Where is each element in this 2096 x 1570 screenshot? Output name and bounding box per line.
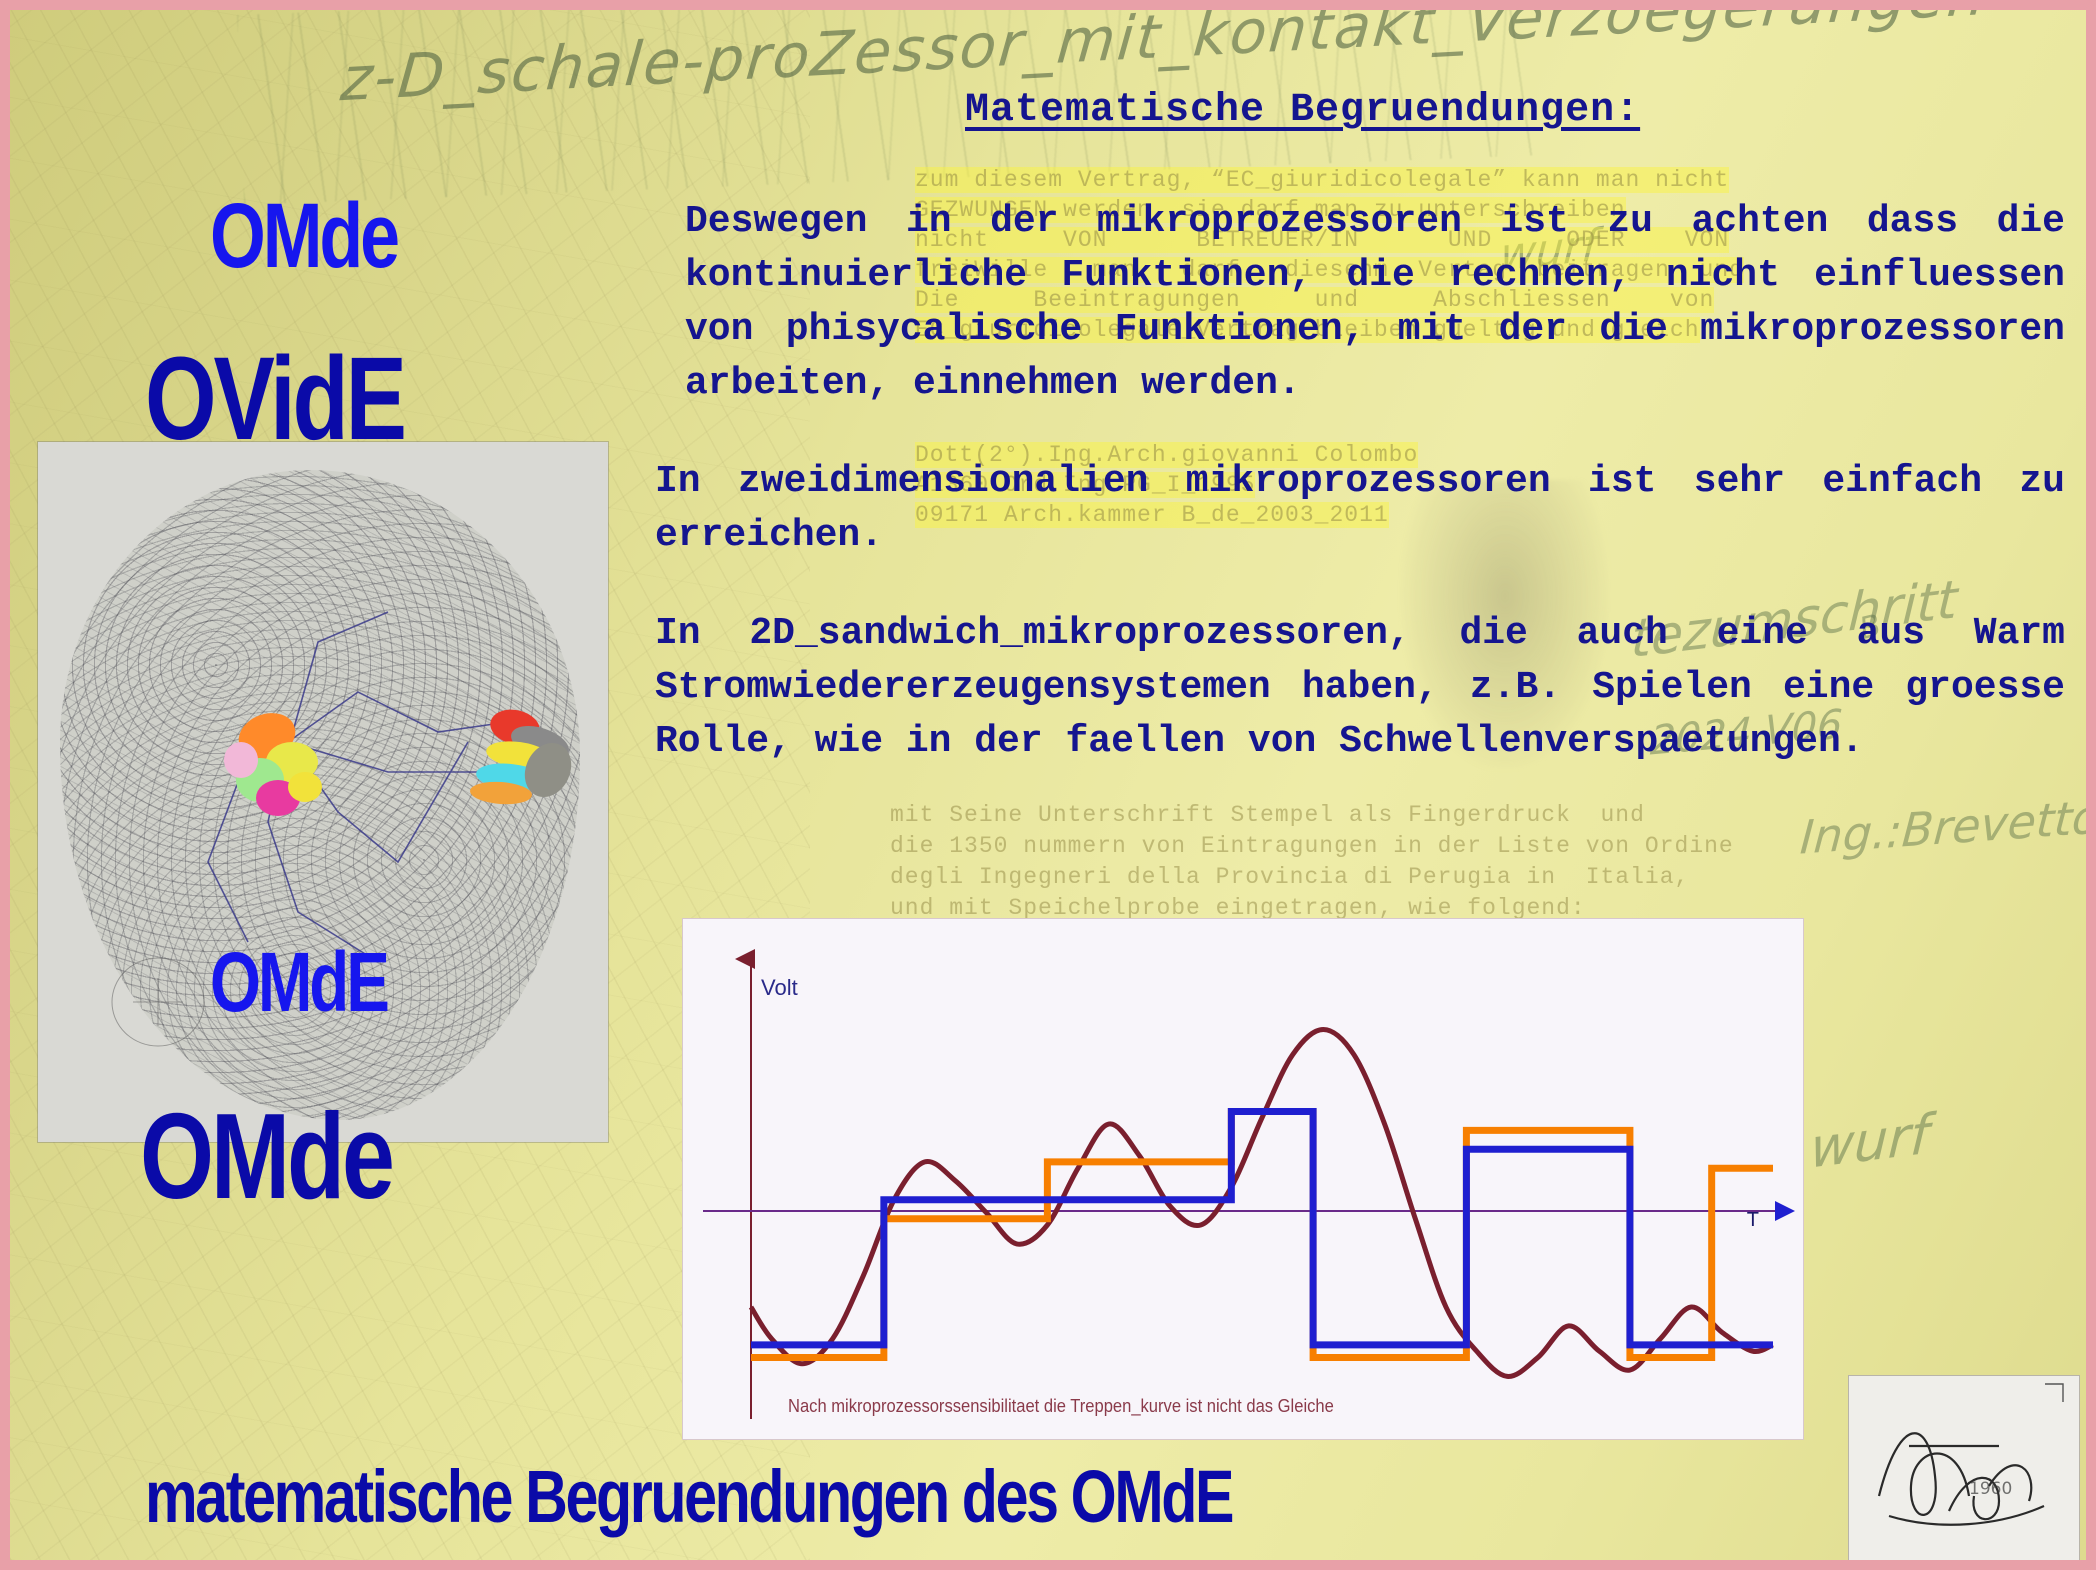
brand-mark-omde-3: OMde (140, 1095, 392, 1217)
svg-text:1960: 1960 (1969, 1479, 2012, 1499)
waveform-chart: Volt T Nach mikroprozessorssensibilitaet… (682, 918, 1804, 1440)
chart-x-axis-label: T (1747, 1209, 1759, 1232)
signature-scribble: 1960 (1849, 1376, 2079, 1561)
document-body: Deswegen in der mikroprozessoren ist zu … (655, 195, 2065, 769)
brand-mark-omde-1: OMde (210, 190, 397, 282)
presentation-slide: z-D_schale-proZessor_mit_kontakt_Verzoeg… (0, 0, 2096, 1570)
brain-sketch-photo (38, 442, 608, 1142)
signature-stamp-card: 1960 (1848, 1375, 2080, 1562)
slide-footer-title: matematische Begruendungen des OMdE (145, 1460, 1232, 1534)
chart-plot-area (683, 919, 1803, 1439)
chart-y-axis-label: Volt (761, 975, 798, 1001)
color-blob (224, 742, 258, 778)
brand-mark-ovide: OVidE (145, 340, 404, 458)
chart-caption: Nach mikroprozessorssensibilitaet die Tr… (788, 1396, 1334, 1417)
color-blob (288, 772, 322, 802)
brand-mark-omde-2: OMdE (210, 940, 387, 1024)
paragraph-3: In 2D_sandwich_mikroprozessoren, die auc… (655, 607, 2065, 769)
paragraph-1: Deswegen in der mikroprozessoren ist zu … (655, 195, 2065, 411)
blue-step-curve (751, 1111, 1773, 1344)
chart-series-group (751, 1029, 1773, 1376)
paragraph-2: In zweidimensionalien mikroprozessoren i… (655, 455, 2065, 563)
page-title: Matematische Begruendungen: (965, 88, 1640, 133)
